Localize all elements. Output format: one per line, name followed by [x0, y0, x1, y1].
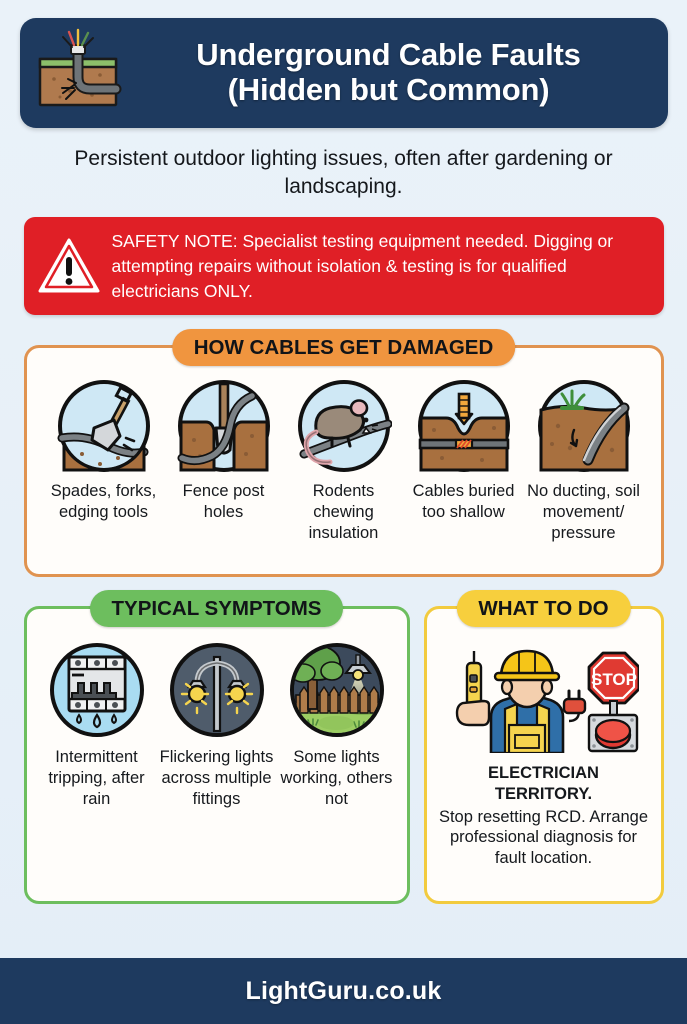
- infographic-page: Underground Cable Faults (Hidden but Com…: [0, 0, 687, 1024]
- title-line-2: (Hidden but Common): [126, 73, 652, 108]
- subtitle: Persistent outdoor lighting issues, ofte…: [44, 145, 644, 200]
- damage-item-caption: No ducting, soil movement/ pressure: [525, 481, 643, 543]
- what-to-do-panel-title: WHAT TO DO: [456, 590, 630, 627]
- damage-item-caption: Spades, forks, edging tools: [45, 481, 163, 522]
- flickering-street-lamps-icon: [168, 641, 266, 739]
- safety-note-text: SAFETY NOTE: Specialist testing equipmen…: [112, 229, 648, 304]
- safety-note-banner: SAFETY NOTE: Specialist testing equipmen…: [24, 217, 664, 315]
- damage-item-caption: Cables buried too shallow: [405, 481, 523, 522]
- damage-item: Cables buried too shallow: [405, 378, 523, 543]
- fence-post-hole-spade-icon: [176, 378, 272, 474]
- warning-triangle-icon: [36, 235, 102, 297]
- damage-item-caption: Fence post holes: [165, 481, 283, 522]
- symptoms-panel-title: TYPICAL SYMPTOMS: [90, 590, 344, 627]
- rodent-chewing-cable-icon: [296, 378, 392, 474]
- footer-bar: LightGuru.co.uk: [0, 958, 687, 1024]
- svg-text:STOP: STOP: [591, 670, 637, 689]
- electrician-stop-sign-icon: STOP: [449, 645, 639, 753]
- header-banner: Underground Cable Faults (Hidden but Com…: [20, 18, 668, 128]
- lower-panels-row: TYPICAL SYMPTOMS: [24, 606, 664, 904]
- buried-cable-cross-section-icon: [30, 27, 126, 119]
- shallow-buried-cable-pressure-icon: [416, 378, 512, 474]
- symptoms-items-row: Intermittent tripping, after rain: [35, 641, 399, 809]
- damage-item: Rodents chewing insulation: [285, 378, 403, 543]
- symptom-item: Flickering lights across multiple fittin…: [158, 641, 276, 809]
- what-to-do-body: Stop resetting RCD. Arrange professional…: [439, 807, 649, 869]
- what-to-do-heading: ELECTRICIAN TERRITORY.: [439, 763, 649, 803]
- no-ducting-soil-movement-icon: [536, 378, 632, 474]
- symptom-item-caption: Flickering lights across multiple fittin…: [158, 747, 276, 809]
- garden-lights-partial-icon: [288, 641, 386, 739]
- symptom-item-caption: Intermittent tripping, after rain: [38, 747, 156, 809]
- damage-item: Spades, forks, edging tools: [45, 378, 163, 543]
- symptom-item-caption: Some lights working, others not: [278, 747, 396, 809]
- damage-item: No ducting, soil movement/ pressure: [525, 378, 643, 543]
- spade-digging-cable-icon: [56, 378, 152, 474]
- symptom-item: Intermittent tripping, after rain: [38, 641, 156, 809]
- footer-website: LightGuru.co.uk: [245, 977, 441, 1006]
- damage-items-row: Spades, forks, edging tools: [37, 378, 651, 543]
- symptom-item: Some lights working, others not: [278, 641, 396, 809]
- typical-symptoms-panel: TYPICAL SYMPTOMS: [24, 606, 410, 904]
- title-line-1: Underground Cable Faults: [196, 37, 580, 72]
- damage-item-caption: Rodents chewing insulation: [285, 481, 403, 543]
- damage-panel-title: HOW CABLES GET DAMAGED: [172, 329, 516, 366]
- how-cables-get-damaged-panel: HOW CABLES GET DAMAGED: [24, 345, 664, 577]
- tripping-breaker-rain-icon: [48, 641, 146, 739]
- what-to-do-panel: WHAT TO DO: [424, 606, 664, 904]
- damage-item: Fence post holes: [165, 378, 283, 543]
- page-title: Underground Cable Faults (Hidden but Com…: [126, 38, 652, 107]
